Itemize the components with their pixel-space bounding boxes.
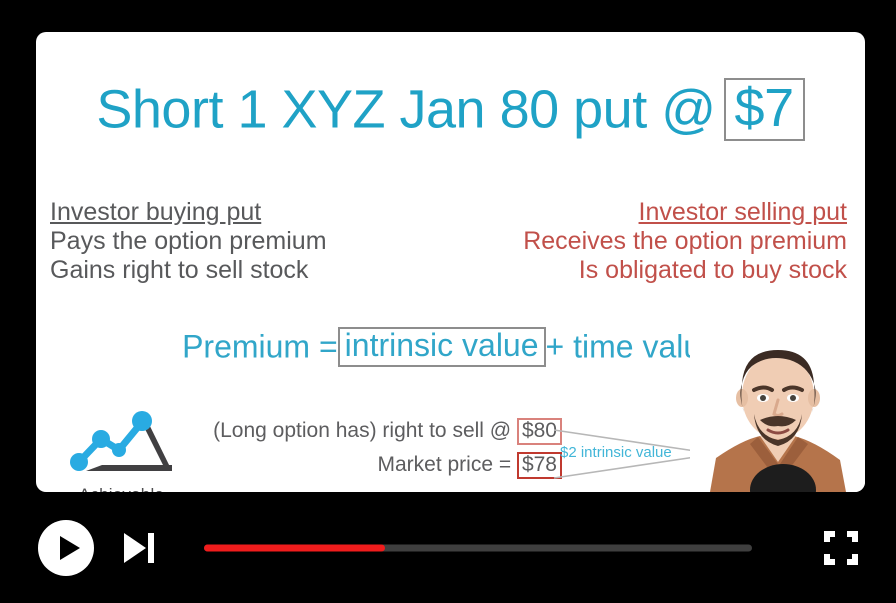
column-buying-put-heading: Investor buying put [50,198,327,227]
callout-intrinsic-value-label: $2 intrinsic value [560,444,672,461]
slide-title-text: Short 1 XYZ Jan 80 put @ [96,80,715,140]
column-buying-put-line-2: Gains right to sell stock [50,256,327,285]
slide-canvas: Short 1 XYZ Jan 80 put @$7 Investor buyi… [36,32,865,492]
achievable-logo: Achievable [54,392,189,492]
column-selling-put-line-1: Receives the option premium [523,227,847,256]
player-controls [0,492,896,603]
formula-boxed-term: intrinsic value [338,327,546,367]
comparison-columns: Investor buying put Pays the option prem… [36,198,865,294]
column-buying-put: Investor buying put Pays the option prem… [50,198,327,285]
fullscreen-button[interactable] [820,527,862,569]
progress-bar[interactable] [204,544,752,551]
annotation-line-market: Market price = $78 [162,450,562,484]
column-buying-put-line-1: Pays the option premium [50,227,327,256]
presenter-webcam-overlay [690,340,865,492]
column-selling-put: Investor selling put Receives the option… [523,198,847,285]
play-button[interactable] [36,518,96,578]
line-chart-logo-icon [54,392,189,484]
column-selling-put-line-2: Is obligated to buy stock [523,256,847,285]
slide-title: Short 1 XYZ Jan 80 put @$7 [36,78,865,141]
video-player: Short 1 XYZ Jan 80 put @$7 Investor buyi… [0,0,896,603]
progress-bar-fill [204,544,385,551]
skip-next-button[interactable] [114,525,160,571]
annotation-strike-label: (Long option has) right to sell @ [213,419,511,442]
formula-lead: Premium = [182,328,338,364]
presenter-avatar [690,340,865,492]
intrinsic-value-annotation: (Long option has) right to sell @ $80 Ma… [162,416,562,484]
annotation-line-strike: (Long option has) right to sell @ $80 [162,416,562,450]
annotation-market-label: Market price = [377,453,511,476]
column-selling-put-heading: Investor selling put [523,198,847,227]
achievable-logo-text: Achievable [54,485,189,492]
slide-title-boxed-price: $7 [724,78,805,141]
